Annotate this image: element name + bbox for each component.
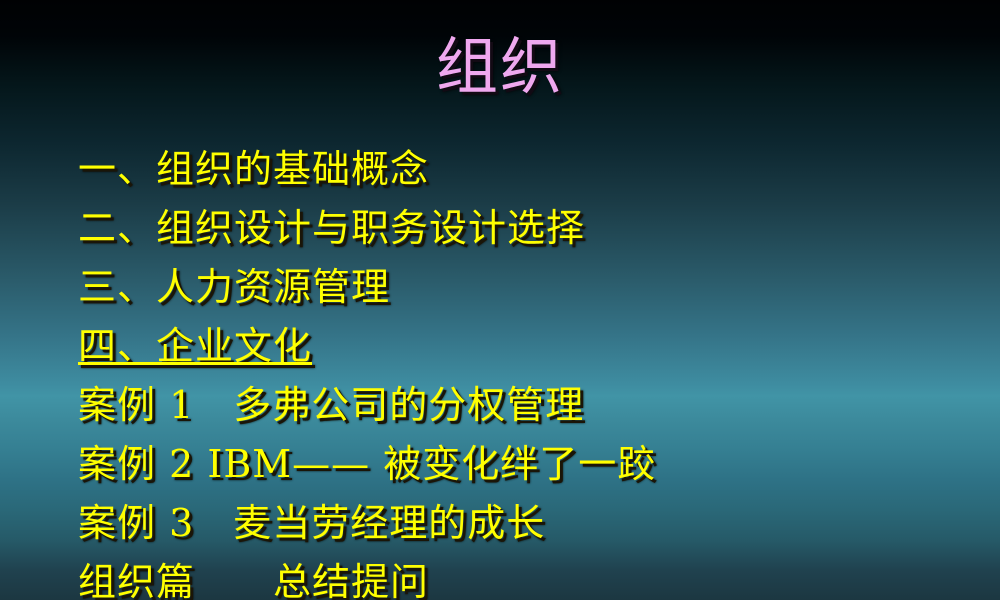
- presentation-slide: 组织 一、组织的基础概念二、组织设计与职务设计选择三、人力资源管理四、企业文化案…: [0, 0, 1000, 600]
- list-item: 案例 3 麦当劳经理的成长: [78, 494, 988, 553]
- list-item: 四、企业文化: [78, 317, 988, 376]
- slide-body-list: 一、组织的基础概念二、组织设计与职务设计选择三、人力资源管理四、企业文化案例 1…: [78, 140, 988, 600]
- list-item: 三、人力资源管理: [78, 258, 988, 317]
- list-item: 一、组织的基础概念: [78, 140, 988, 199]
- list-item: 案例 2 IBM—— 被变化绊了一跤: [78, 435, 988, 494]
- list-item: 二、组织设计与职务设计选择: [78, 199, 988, 258]
- list-item: 组织篇 总结提问: [78, 553, 988, 600]
- slide-title-area: 组织: [0, 36, 1000, 98]
- list-item: 案例 1 多弗公司的分权管理: [78, 376, 988, 435]
- page-title: 组织: [436, 36, 564, 98]
